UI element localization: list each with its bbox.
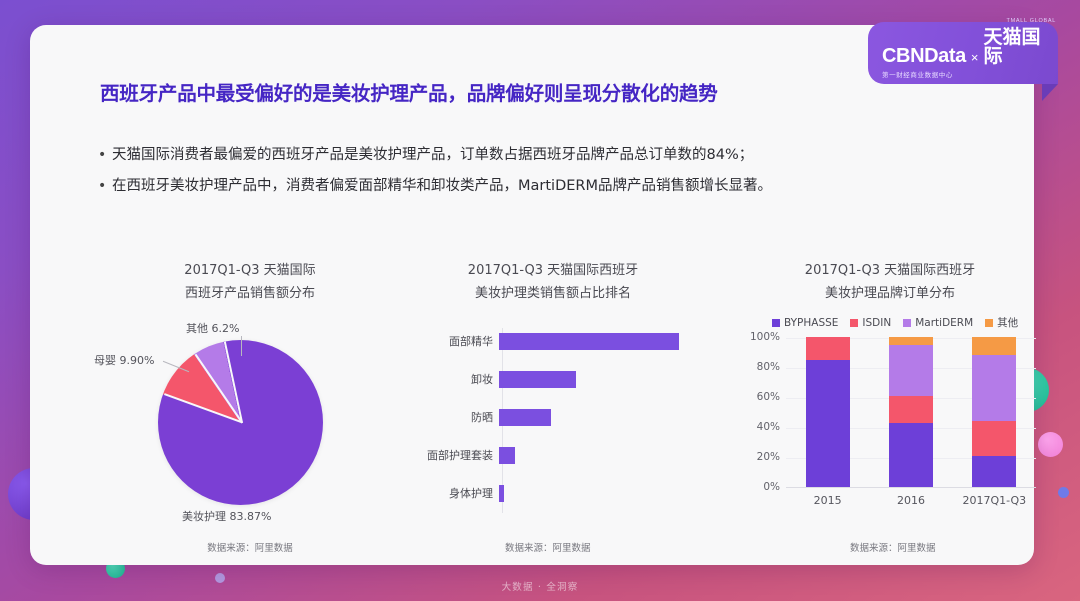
pie-label-other: 其他 6.2%: [186, 320, 239, 336]
slide-card: 西班牙产品中最受偏好的是美妆护理产品，品牌偏好则呈现分散化的趋势 • 天猫国际消…: [30, 25, 1034, 565]
x-axis-tick-label: 2017Q1-Q3: [953, 494, 1036, 507]
bar-fill: [499, 371, 576, 388]
y-axis-tick-label: 40%: [744, 421, 780, 433]
logo-cbndata-text: CBNData: [882, 46, 966, 66]
stack-segment-其他: [972, 337, 1016, 355]
bar-category-label: 身体护理: [403, 485, 499, 501]
list-item: • 天猫国际消费者最偏爱的西班牙产品是美妆护理产品，订单数占据西班牙品牌产品总订…: [98, 145, 1018, 167]
bar-category-label: 防晒: [403, 409, 499, 425]
x-axis-tick-label: 2016: [869, 494, 952, 507]
legend-label: MartiDERM: [915, 317, 973, 329]
legend-label: BYPHASSE: [784, 317, 838, 329]
chart-source-stacked: 数据来源：阿里数据: [730, 540, 1050, 554]
bar-fill: [499, 409, 551, 426]
pie-chart: 其他 6.2% 母婴 9.90% 美妆护理 83.87%: [100, 322, 400, 522]
pie-separator: [164, 394, 242, 424]
y-axis-tick-label: 60%: [744, 391, 780, 403]
legend-item-isdin[interactable]: ISDIN: [850, 317, 891, 329]
legend-swatch-icon: [850, 319, 858, 327]
chart-title-stacked: 2017Q1-Q3 天猫国际西班牙 美妆护理品牌订单分布: [730, 260, 1050, 306]
pie-label-beauty: 美妆护理 83.87%: [182, 508, 271, 524]
bar-fill: [499, 447, 515, 464]
stacked-bar-column[interactable]: [972, 337, 1016, 487]
legend-item-martiderm[interactable]: MartiDERM: [903, 317, 973, 329]
bullet-marker-icon: •: [98, 145, 112, 167]
plot-area: 201520162017Q1-Q3: [786, 338, 1036, 488]
bullet-marker-icon: •: [98, 176, 112, 198]
bar-chart: 面部精华卸妆防晒面部护理套装身体护理: [403, 322, 703, 522]
y-axis-tick-label: 20%: [744, 451, 780, 463]
pie-slices: [158, 340, 323, 505]
stack-segment-byphasse: [889, 423, 933, 488]
logo-tmall-global-text: TMALL GLOBAL: [1007, 18, 1056, 24]
logo-cross-icon: ×: [971, 50, 979, 65]
pie-label-baby: 母婴 9.90%: [94, 352, 154, 368]
chart-source-bar: 数据来源：阿里数据: [403, 540, 703, 554]
stack-segment-martiderm: [972, 355, 1016, 421]
stack-segment-byphasse: [972, 456, 1016, 488]
bar-fill: [499, 333, 679, 350]
stacked-bar-chart: 100%80%60%40%20%0% 201520162017Q1-Q3: [730, 338, 1050, 528]
stack-segment-isdin: [972, 421, 1016, 456]
chart-title-pie: 2017Q1-Q3 天猫国际 西班牙产品销售额分布: [100, 260, 400, 306]
stacked-bar-column[interactable]: [806, 337, 850, 487]
bar-category-label: 卸妆: [403, 371, 499, 387]
y-axis-tick-label: 100%: [744, 331, 780, 343]
chart-panel-bar: 2017Q1-Q3 天猫国际西班牙 美妆护理类销售额占比排名 面部精华卸妆防晒面…: [403, 260, 703, 560]
chart-legend: BYPHASSEISDINMartiDERM其他: [772, 315, 1018, 330]
bar-category-label: 面部护理套装: [403, 447, 499, 463]
stack-segment-byphasse: [806, 360, 850, 488]
bar-row: 卸妆: [403, 370, 576, 388]
footer-tagline: 大数据 · 全洞察: [0, 579, 1080, 593]
bar-row: 面部护理套装: [403, 446, 515, 464]
bullet-list: • 天猫国际消费者最偏爱的西班牙产品是美妆护理产品，订单数占据西班牙品牌产品总订…: [98, 145, 1018, 207]
stack-segment-isdin: [889, 396, 933, 423]
bar-category-label: 面部精华: [403, 333, 499, 349]
bar-row: 防晒: [403, 408, 551, 426]
x-axis-baseline: [786, 487, 1036, 488]
legend-label: 其他: [997, 315, 1018, 330]
logo-row: CBNData × 天猫国际 TMALL GLOBAL: [882, 28, 1058, 66]
page-title: 西班牙产品中最受偏好的是美妆护理产品，品牌偏好则呈现分散化的趋势: [100, 80, 800, 108]
logo-subtitle: 第一财经商业数据中心: [882, 69, 1058, 79]
bar-row: 面部精华: [403, 332, 679, 350]
bullet-text: 天猫国际消费者最偏爱的西班牙产品是美妆护理产品，订单数占据西班牙品牌产品总订单数…: [112, 145, 753, 167]
stack-segment-其他: [889, 337, 933, 345]
pie-leader-line: [241, 336, 242, 356]
chart-panel-stacked: 2017Q1-Q3 天猫国际西班牙 美妆护理品牌订单分布 BYPHASSEISD…: [730, 260, 1050, 560]
bar-fill: [499, 485, 504, 502]
stack-segment-martiderm: [889, 345, 933, 396]
bar-row: 身体护理: [403, 484, 504, 502]
legend-label: ISDIN: [862, 317, 891, 329]
chart-title-bar: 2017Q1-Q3 天猫国际西班牙 美妆护理类销售额占比排名: [403, 260, 703, 306]
legend-swatch-icon: [772, 319, 780, 327]
list-item: • 在西班牙美妆护理产品中，消费者偏爱面部精华和卸妆类产品，MartiDERM品…: [98, 176, 1018, 198]
bullet-text: 在西班牙美妆护理产品中，消费者偏爱面部精华和卸妆类产品，MartiDERM品牌产…: [112, 176, 772, 198]
legend-swatch-icon: [985, 319, 993, 327]
stacked-bar-column[interactable]: [889, 337, 933, 487]
legend-item-byphasse[interactable]: BYPHASSE: [772, 317, 838, 329]
logo-tmall-text: 天猫国际: [983, 28, 1058, 66]
legend-item-其他[interactable]: 其他: [985, 315, 1018, 330]
stack-segment-isdin: [806, 337, 850, 360]
decorative-dot-blue: [1058, 487, 1069, 498]
y-axis-tick-label: 80%: [744, 361, 780, 373]
y-axis-labels: 100%80%60%40%20%0%: [738, 338, 780, 488]
y-axis-tick-label: 0%: [744, 481, 780, 493]
legend-swatch-icon: [903, 319, 911, 327]
x-axis-tick-label: 2015: [786, 494, 869, 507]
chart-panel-pie: 2017Q1-Q3 天猫国际 西班牙产品销售额分布 其他 6.2% 母婴 9.9…: [100, 260, 400, 560]
brand-logo: CBNData × 天猫国际 TMALL GLOBAL 第一财经商业数据中心: [868, 22, 1058, 84]
chart-source-pie: 数据来源：阿里数据: [100, 540, 400, 554]
